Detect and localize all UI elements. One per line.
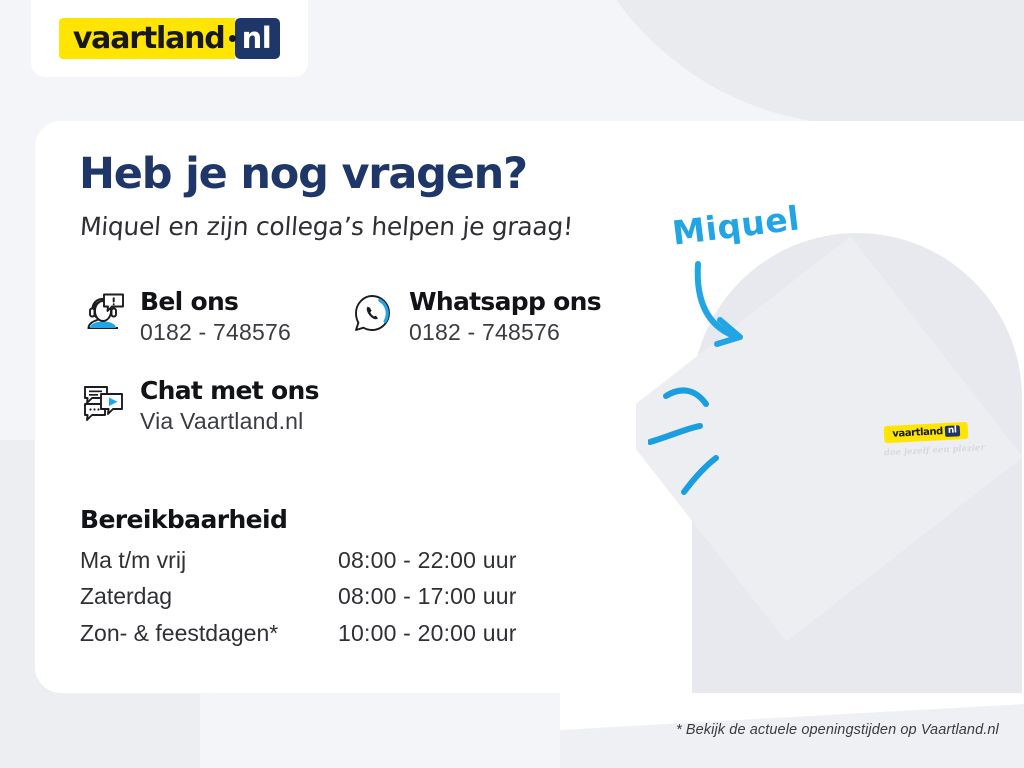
logo-word-plate: vaartland [59, 18, 235, 59]
contact-text-group: Whatsapp ons 0182 - 748576 [409, 288, 601, 348]
logo-wordmark: vaartland [73, 24, 225, 54]
table-row: Zon- & feestdagen* 10:00 - 20:00 uur [80, 621, 517, 657]
speed-lines-icon [648, 366, 778, 506]
table-row: Ma t/m vrij 08:00 - 22:00 uur [80, 548, 517, 584]
curved-arrow-icon [690, 258, 800, 368]
contact-value: 0182 - 748576 [409, 317, 601, 348]
availability-day: Zaterdag [80, 584, 338, 620]
polo-logo-word: vaartland [892, 427, 943, 440]
contact-title: Chat met ons [140, 377, 319, 406]
headset-agent-icon [80, 290, 126, 336]
table-row: Zaterdag 08:00 - 17:00 uur [80, 584, 517, 620]
contact-title: Bel ons [140, 288, 291, 317]
polo-logo-tld: nl [945, 425, 960, 437]
background-shape-top-right [560, 0, 1024, 125]
chat-bubbles-icon [80, 379, 126, 425]
brand-logo[interactable]: vaartland nl [31, 0, 308, 77]
page-subtitle: Miquel en zijn collega’s helpen je graag… [79, 212, 574, 242]
availability-hours: 08:00 - 17:00 uur [338, 584, 517, 620]
availability-hours: 08:00 - 22:00 uur [338, 548, 517, 584]
contact-text-group: Bel ons 0182 - 748576 [140, 288, 291, 348]
page-title: Heb je nog vragen? [79, 152, 527, 197]
availability-hours: 10:00 - 20:00 uur [338, 621, 517, 657]
contact-option-call[interactable]: Bel ons 0182 - 748576 [80, 288, 291, 348]
logo-lockup: vaartland nl [59, 18, 280, 59]
dot-separator-icon [229, 35, 236, 42]
whatsapp-icon [349, 290, 395, 336]
availability-table: Ma t/m vrij 08:00 - 22:00 uur Zaterdag 0… [80, 548, 517, 657]
availability-day: Ma t/m vrij [80, 548, 338, 584]
availability-heading: Bereikbaarheid [80, 505, 287, 534]
contact-value: Via Vaartland.nl [140, 406, 319, 437]
footer-note: * Bekijk de actuele openingstijden op Va… [676, 722, 999, 738]
logo-tld-plate: nl [235, 18, 281, 59]
availability-day: Zon- & feestdagen* [80, 621, 338, 657]
logo-tld-text: nl [242, 24, 272, 53]
contact-title: Whatsapp ons [409, 288, 601, 317]
contact-text-group: Chat met ons Via Vaartland.nl [140, 377, 319, 437]
contact-value: 0182 - 748576 [140, 317, 291, 348]
contact-option-chat[interactable]: Chat met ons Via Vaartland.nl [80, 377, 319, 437]
contact-banner: vaartland nl Heb je nog vragen? Miquel e… [0, 0, 1024, 768]
contact-option-whatsapp[interactable]: Whatsapp ons 0182 - 748576 [349, 288, 601, 348]
